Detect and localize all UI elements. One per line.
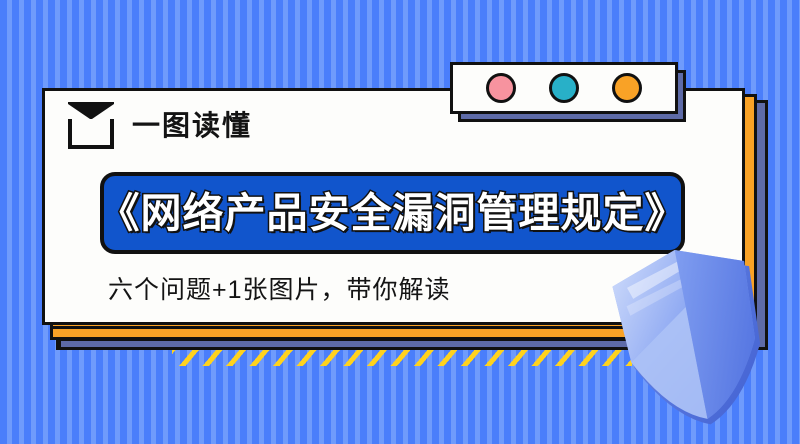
poster-canvas: 一图读懂 《网络产品安全漏洞管理规定》 六个问题+1张图片，带你解读 xyxy=(0,0,800,444)
dot-teal xyxy=(549,73,579,103)
security-shield-icon xyxy=(608,246,780,432)
hatch-stripe-decoration xyxy=(172,350,632,366)
dots-panel xyxy=(450,62,678,114)
dot-orange xyxy=(612,73,642,103)
header-row: 一图读懂 xyxy=(68,100,252,152)
document-notch-icon xyxy=(68,103,114,149)
title-box: 《网络产品安全漏洞管理规定》 xyxy=(100,172,685,254)
page-title: 《网络产品安全漏洞管理规定》 xyxy=(99,193,687,234)
subtitle-text: 六个问题+1张图片，带你解读 xyxy=(108,278,451,303)
document-notch-shape xyxy=(68,102,114,119)
dot-pink xyxy=(486,73,516,103)
kicker-text: 一图读懂 xyxy=(132,112,252,140)
